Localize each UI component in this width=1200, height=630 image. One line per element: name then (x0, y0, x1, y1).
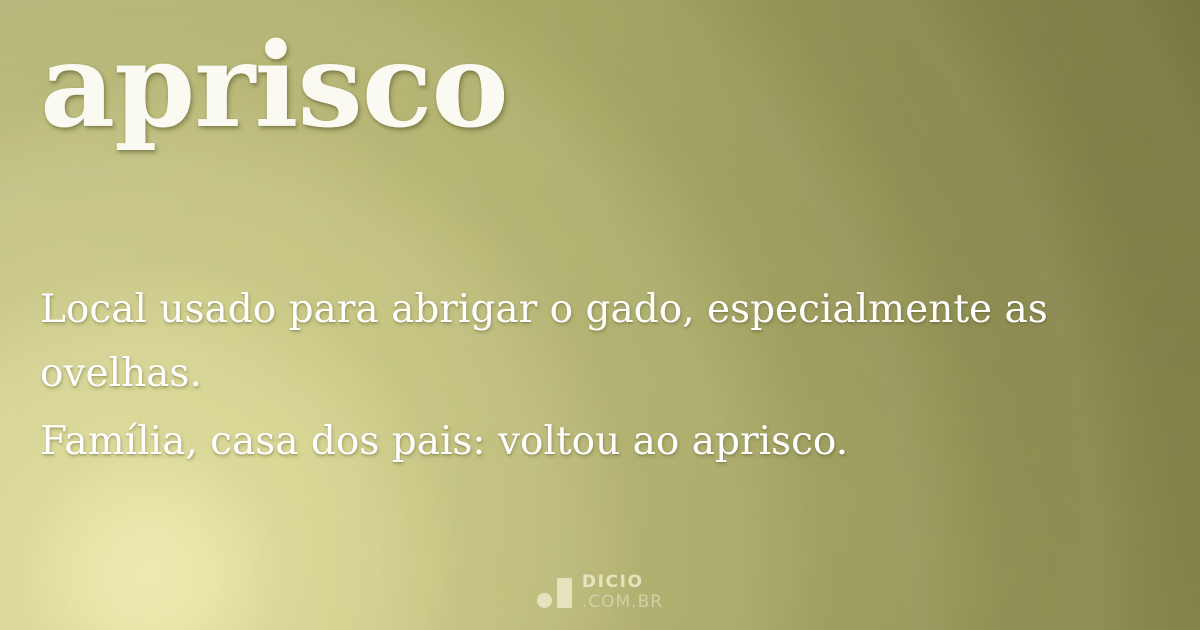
logo-wordmark: DICIO .COM.BR (582, 576, 663, 608)
dicio-mark-icon (537, 576, 572, 608)
logo-tld-label: .COM.BR (582, 594, 663, 611)
logo-bar-icon (557, 578, 572, 608)
dicio-logo: DICIO .COM.BR (0, 576, 1200, 608)
logo-name-label: DICIO (582, 574, 663, 591)
headword-title: aprisco (40, 28, 508, 144)
definition-item: Local usado para abrigar o gado, especia… (40, 278, 1150, 406)
definition-list: Local usado para abrigar o gado, especia… (40, 278, 1150, 478)
definition-item: Família, casa dos pais: voltou ao aprisc… (40, 410, 1150, 474)
dicio-definition-card: aprisco Local usado para abrigar o gado,… (0, 0, 1200, 630)
logo-circle-icon (537, 593, 552, 608)
